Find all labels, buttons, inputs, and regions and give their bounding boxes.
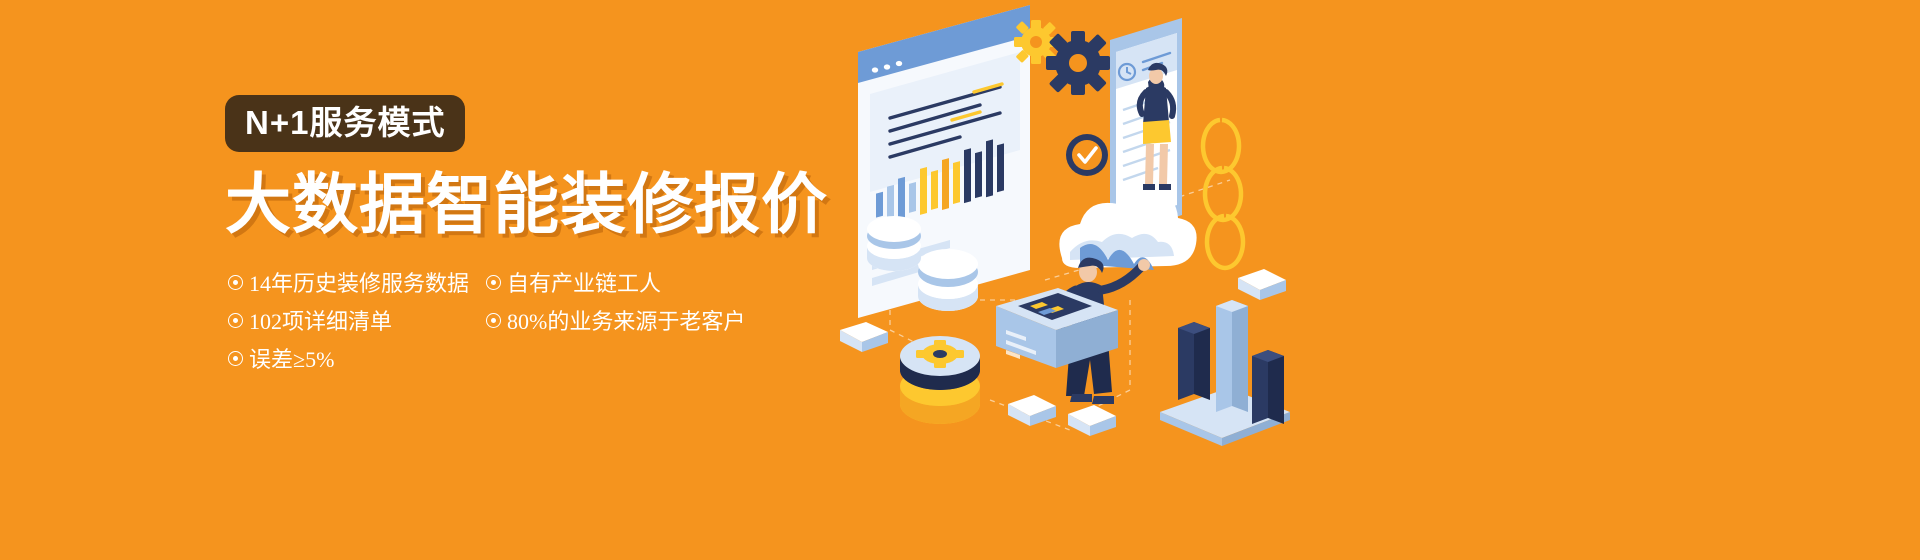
service-model-badge: N+1服务模式 — [225, 95, 465, 152]
list-item-label: 80%的业务来源于老客户 — [507, 304, 745, 336]
list-item: 误差≥5% — [228, 342, 486, 374]
isometric-big-data-dashboard-illustration — [830, 0, 1390, 470]
list-item-label: 自有产业链工人 — [507, 266, 661, 298]
list-item: 14年历史装修服务数据 — [228, 266, 486, 298]
gear-icon-large — [1046, 31, 1110, 95]
promo-banner: N+1服务模式 大数据智能装修报价 14年历史装修服务数据 自有产业链工人 10… — [0, 0, 1920, 560]
ring-arc-decorations — [1203, 120, 1243, 268]
circled-dot-icon — [228, 313, 243, 328]
list-item-label: 14年历史装修服务数据 — [249, 266, 469, 298]
circled-dot-icon — [486, 275, 501, 290]
bar-chart-blocks — [1160, 300, 1290, 446]
list-item-label: 误差≥5% — [249, 342, 334, 374]
floating-card-group — [1068, 405, 1116, 436]
list-item-label: 102项详细清单 — [249, 304, 392, 336]
circled-dot-icon — [486, 313, 501, 328]
checkmark-badge-icon — [1066, 134, 1108, 176]
circled-dot-icon — [228, 275, 243, 290]
list-item: 102项详细清单 — [228, 304, 486, 336]
circled-dot-icon — [228, 351, 243, 366]
